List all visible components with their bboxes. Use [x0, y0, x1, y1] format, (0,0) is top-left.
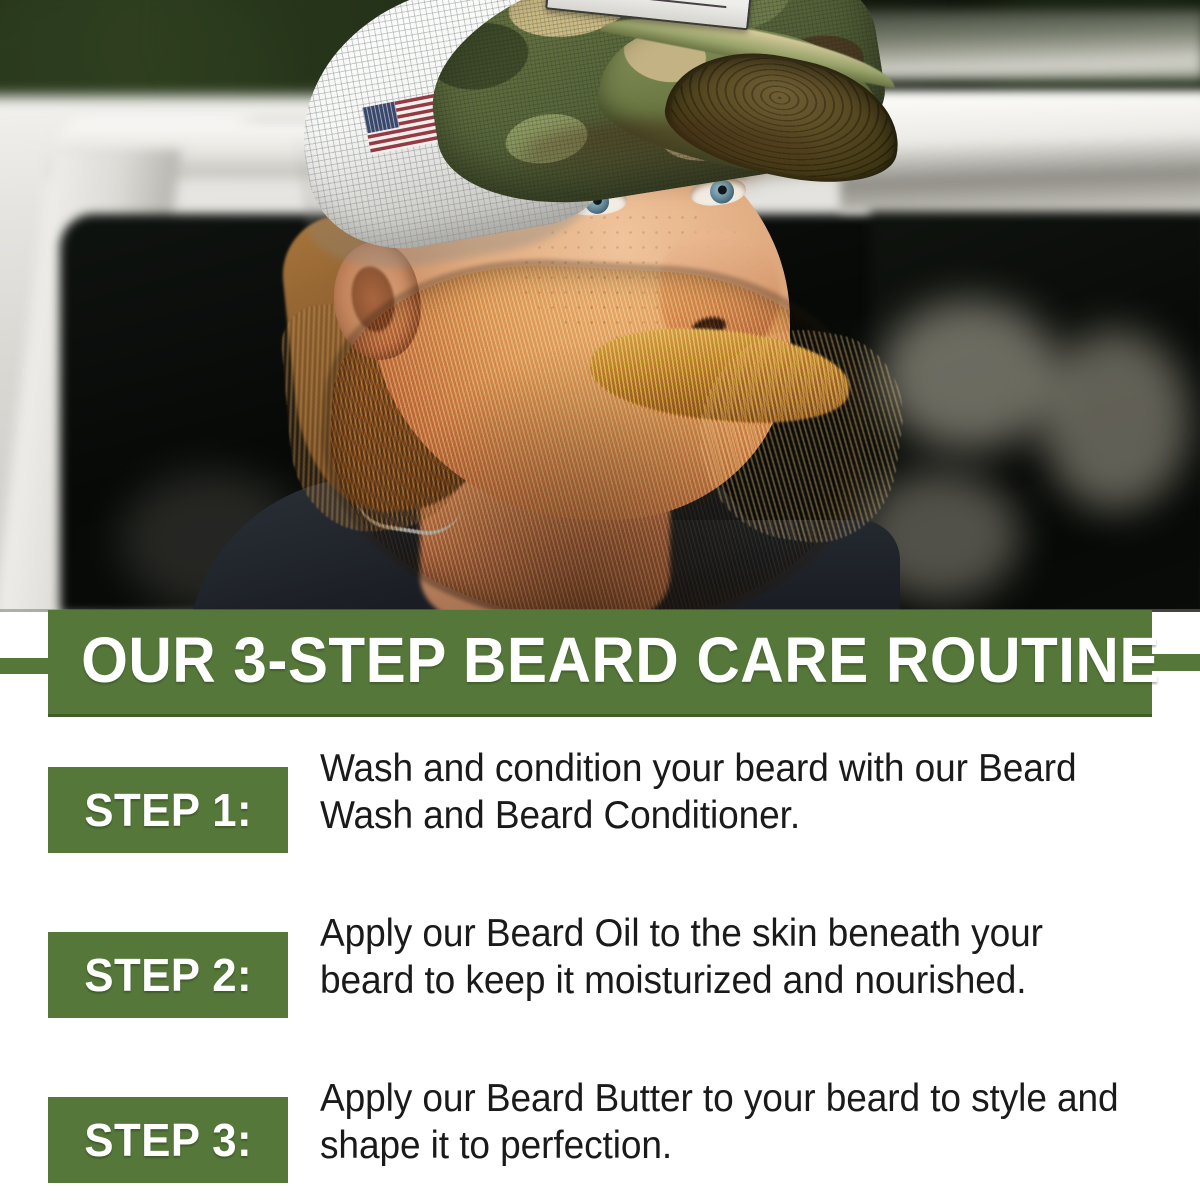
step-row: STEP 3: Apply our Beard Butter to your b… [0, 1075, 1200, 1183]
headline-banner: OUR 3-STEP BEARD CARE ROUTINE [0, 610, 1200, 730]
cap-patch-rule [571, 0, 726, 8]
step-badge-label: STEP 2: [84, 952, 252, 998]
page-title: OUR 3-STEP BEARD CARE ROUTINE [81, 624, 1119, 696]
step-text-3: Apply our Beard Butter to your beard to … [320, 1075, 1156, 1169]
step-badge-1: STEP 1: [48, 767, 288, 853]
man-portrait: BEARDED [0, 0, 1200, 612]
banner-background: OUR 3-STEP BEARD CARE ROUTINE [48, 610, 1152, 717]
step-badge-3: STEP 3: [48, 1097, 288, 1183]
banner-tab-left [0, 658, 52, 674]
step-badge-label: STEP 3: [84, 1117, 252, 1163]
step-badge-2: STEP 2: [48, 932, 288, 1018]
step-row: STEP 1: Wash and condition your beard wi… [0, 745, 1200, 853]
brim-cast-shadow [520, 120, 820, 190]
step-text-1: Wash and condition your beard with our B… [320, 745, 1156, 839]
hero-photo: BEARDED [0, 0, 1200, 612]
steps-list: STEP 1: Wash and condition your beard wi… [0, 745, 1200, 1200]
step-text-2: Apply our Beard Oil to the skin beneath … [320, 910, 1156, 1004]
beard-care-routine-infographic: BEARDED OUR 3-STEP BEARD CARE ROUTINE ST… [0, 0, 1200, 1200]
step-row: STEP 2: Apply our Beard Oil to the skin … [0, 910, 1200, 1018]
step-badge-label: STEP 1: [84, 787, 252, 833]
